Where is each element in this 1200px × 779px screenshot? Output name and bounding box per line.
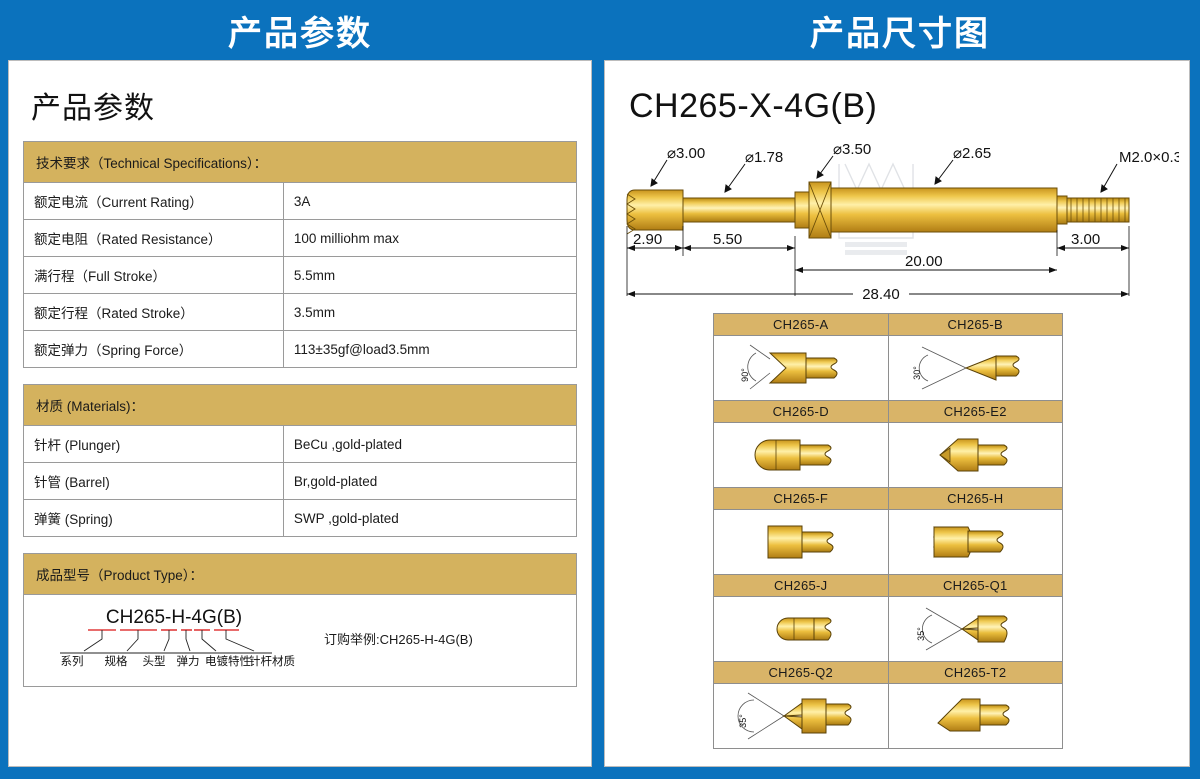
variant-image-q1: 35° — [888, 597, 1063, 662]
left-column: 产品参数 产品参数 技术要求（Technical Specifications）… — [0, 0, 600, 779]
pin-dimension-svg: ⌀3.00 ⌀1.78 ⌀3.50 ⌀2.65 M2.0×0.3 — [605, 130, 1179, 310]
parameters-card: 产品参数 技术要求（Technical Specifications）： 额定电… — [8, 60, 592, 767]
materials-table-header-row: 材质 (Materials)： — [24, 385, 577, 426]
variant-image-t2 — [888, 684, 1063, 749]
spec-table-header: 技术要求（Technical Specifications）： — [24, 142, 577, 183]
variant-image-e2 — [888, 423, 1063, 488]
table-row: 额定弹力（Spring Force） 113±35gf@load3.5mm — [24, 331, 577, 368]
product-type-body: CH265-H-4G(B) — [23, 595, 577, 687]
spec-key-rated-stroke: 额定行程（Rated Stroke） — [24, 294, 284, 331]
dimension-drawing: ⌀3.00 ⌀1.78 ⌀3.50 ⌀2.65 M2.0×0.3 — [605, 130, 1189, 315]
variant-image-f — [714, 510, 889, 575]
table-row: 满行程（Full Stroke） 5.5mm — [24, 257, 577, 294]
variant-label-row: CH265-A CH265-B — [714, 314, 1063, 336]
variant-name-d: CH265-D — [714, 401, 889, 423]
spec-value-spring-force: 113±35gf@load3.5mm — [283, 331, 576, 368]
variant-name-b: CH265-B — [888, 314, 1063, 336]
dim-diameter-barrel: ⌀2.65 — [953, 145, 991, 162]
variant-image-j — [714, 597, 889, 662]
dimension-card: CH265-X-4G(B) — [604, 60, 1190, 767]
variant-image-h — [888, 510, 1063, 575]
segment-label-plating: 电镀特性 — [205, 654, 251, 668]
variant-image-row — [714, 510, 1063, 575]
segment-label-series: 系列 — [61, 654, 84, 668]
spec-table-header-row: 技术要求（Technical Specifications）： — [24, 142, 577, 183]
material-key-spring: 弹簧 (Spring) — [24, 500, 284, 537]
variant-image-d — [714, 423, 889, 488]
variant-name-f: CH265-F — [714, 488, 889, 510]
variant-label-row: CH265-J CH265-Q1 — [714, 575, 1063, 597]
tip-chisel-icon — [900, 687, 1050, 745]
product-model-title: CH265-X-4G(B) — [605, 61, 1189, 126]
tip-spear-30-icon: 30° — [900, 339, 1050, 397]
spec-key-spring-force: 额定弹力（Spring Force） — [24, 331, 284, 368]
segment-label-spec: 规格 — [105, 654, 128, 668]
variant-name-q1: CH265-Q1 — [888, 575, 1063, 597]
spec-key-full-stroke: 满行程（Full Stroke） — [24, 257, 284, 294]
variant-image-row: 35° — [714, 597, 1063, 662]
variant-name-a: CH265-A — [714, 314, 889, 336]
spec-value-rated-stroke: 3.5mm — [283, 294, 576, 331]
variant-image-row — [714, 423, 1063, 488]
angle-label-q2: 35° — [738, 714, 748, 728]
dim-diameter-flange: ⌀3.50 — [833, 141, 871, 158]
material-key-barrel: 针管 (Barrel) — [24, 463, 284, 500]
tip-crown-90-icon: 90° — [726, 339, 876, 397]
dim-length-total: 28.40 — [862, 286, 900, 303]
spec-value-full-stroke: 5.5mm — [283, 257, 576, 294]
code-breakdown-diagram: CH265-H-4G(B) — [24, 603, 324, 669]
variant-name-q2: CH265-Q2 — [714, 662, 889, 684]
spec-key-current-rating: 额定电流（Current Rating） — [24, 183, 284, 220]
tip-flat-icon — [726, 513, 876, 571]
materials-table-header: 材质 (Materials)： — [24, 385, 577, 426]
table-row: 针杆 (Plunger) BeCu ,gold-plated — [24, 426, 577, 463]
segment-label-material: 针杆材质 — [249, 654, 295, 668]
table-row: 额定电阻（Rated Resistance） 100 milliohm max — [24, 220, 577, 257]
angle-label-a: 90° — [740, 368, 750, 382]
variant-name-j: CH265-J — [714, 575, 889, 597]
tip-dome-icon — [726, 600, 876, 658]
tip-four-point-35-icon: 35° — [726, 687, 876, 745]
spec-value-rated-resistance: 100 milliohm max — [283, 220, 576, 257]
product-code-breakdown: CH265-H-4G(B) — [24, 603, 324, 674]
table-row: 弹簧 (Spring) SWP ,gold-plated — [24, 500, 577, 537]
dim-length-stroke: 5.50 — [713, 231, 742, 248]
dim-thread-spec: M2.0×0.3 — [1119, 149, 1179, 166]
spec-table: 技术要求（Technical Specifications）： 额定电流（Cur… — [23, 141, 577, 368]
variant-image-q2: 35° — [714, 684, 889, 749]
tip-three-point-35-icon: 35° — [900, 600, 1050, 658]
left-banner: 产品参数 — [0, 0, 600, 60]
material-value-spring: SWP ,gold-plated — [283, 500, 576, 537]
tip-serrated-crown-icon — [900, 513, 1050, 571]
product-code-text: CH265-H-4G(B) — [106, 607, 242, 628]
variant-label-row: CH265-Q2 CH265-T2 — [714, 662, 1063, 684]
variant-image-row: 90° 30° — [714, 336, 1063, 401]
angle-label-b: 30° — [912, 366, 922, 380]
table-row: 额定电流（Current Rating） 3A — [24, 183, 577, 220]
variant-name-e2: CH265-E2 — [888, 401, 1063, 423]
material-key-plunger: 针杆 (Plunger) — [24, 426, 284, 463]
table-row: 针管 (Barrel) Br,gold-plated — [24, 463, 577, 500]
materials-table: 材质 (Materials)： 针杆 (Plunger) BeCu ,gold-… — [23, 384, 577, 537]
product-type-header-row: 成品型号（Product Type）： — [24, 554, 577, 595]
product-type-table: 成品型号（Product Type）： — [23, 553, 577, 595]
variant-image-row: 35° — [714, 684, 1063, 749]
page-title: 产品参数 — [9, 61, 591, 127]
product-datasheet: 产品参数 产品参数 技术要求（Technical Specifications）… — [0, 0, 1200, 779]
tip-cone-concave-icon — [900, 426, 1050, 484]
dim-length-thread: 3.00 — [1071, 231, 1100, 248]
table-row: 额定行程（Rated Stroke） 3.5mm — [24, 294, 577, 331]
variant-name-t2: CH265-T2 — [888, 662, 1063, 684]
tip-round-icon — [726, 426, 876, 484]
order-example: 订购举例:CH265-H-4G(B) — [324, 603, 473, 648]
variant-name-h: CH265-H — [888, 488, 1063, 510]
spec-value-current-rating: 3A — [283, 183, 576, 220]
variant-image-a: 90° — [714, 336, 889, 401]
dim-diameter-plunger: ⌀1.78 — [745, 149, 783, 166]
angle-label-q1: 35° — [916, 627, 926, 641]
variant-image-b: 30° — [888, 336, 1063, 401]
right-banner: 产品尺寸图 — [600, 0, 1200, 60]
dim-length-barrel: 20.00 — [905, 253, 943, 270]
material-value-plunger: BeCu ,gold-plated — [283, 426, 576, 463]
spec-key-rated-resistance: 额定电阻（Rated Resistance） — [24, 220, 284, 257]
dim-diameter-head: ⌀3.00 — [667, 145, 705, 162]
variant-grid: CH265-A CH265-B 90° — [713, 313, 1063, 749]
material-value-barrel: Br,gold-plated — [283, 463, 576, 500]
dim-length-tip: 2.90 — [633, 231, 662, 248]
right-column: 产品尺寸图 CH265-X-4G(B) — [600, 0, 1200, 779]
product-type-header: 成品型号（Product Type）： — [24, 554, 577, 595]
segment-label-head: 头型 — [143, 654, 166, 668]
variant-label-row: CH265-D CH265-E2 — [714, 401, 1063, 423]
segment-label-force: 弹力 — [177, 654, 200, 668]
variant-label-row: CH265-F CH265-H — [714, 488, 1063, 510]
